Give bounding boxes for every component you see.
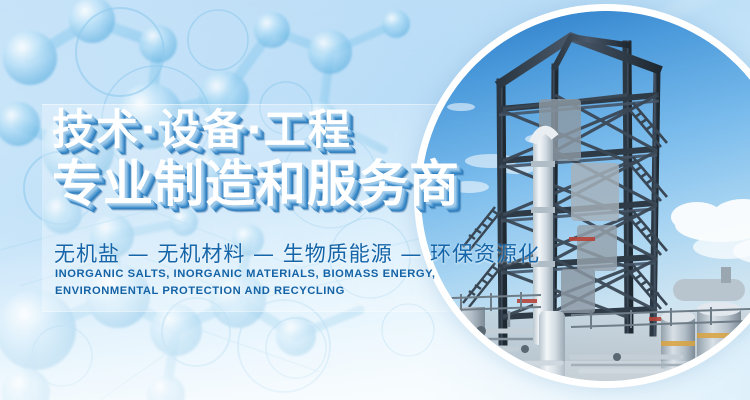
headline-line-2: 专业制造和服务商 bbox=[52, 158, 472, 210]
promotional-banner: 技术·设备·工程 专业制造和服务商 无机盐 — 无机材料 — 生物质能源 — 环… bbox=[0, 0, 750, 400]
headline-line-1: 技术·设备·工程 bbox=[52, 108, 472, 152]
headline-block: 技术·设备·工程 专业制造和服务商 bbox=[52, 108, 472, 210]
subtitle-english: INORGANIC SALTS, INORGANIC MATERIALS, BI… bbox=[55, 266, 445, 301]
subtitle-chinese: 无机盐 — 无机材料 — 生物质能源 — 环保资源化 bbox=[54, 238, 540, 268]
